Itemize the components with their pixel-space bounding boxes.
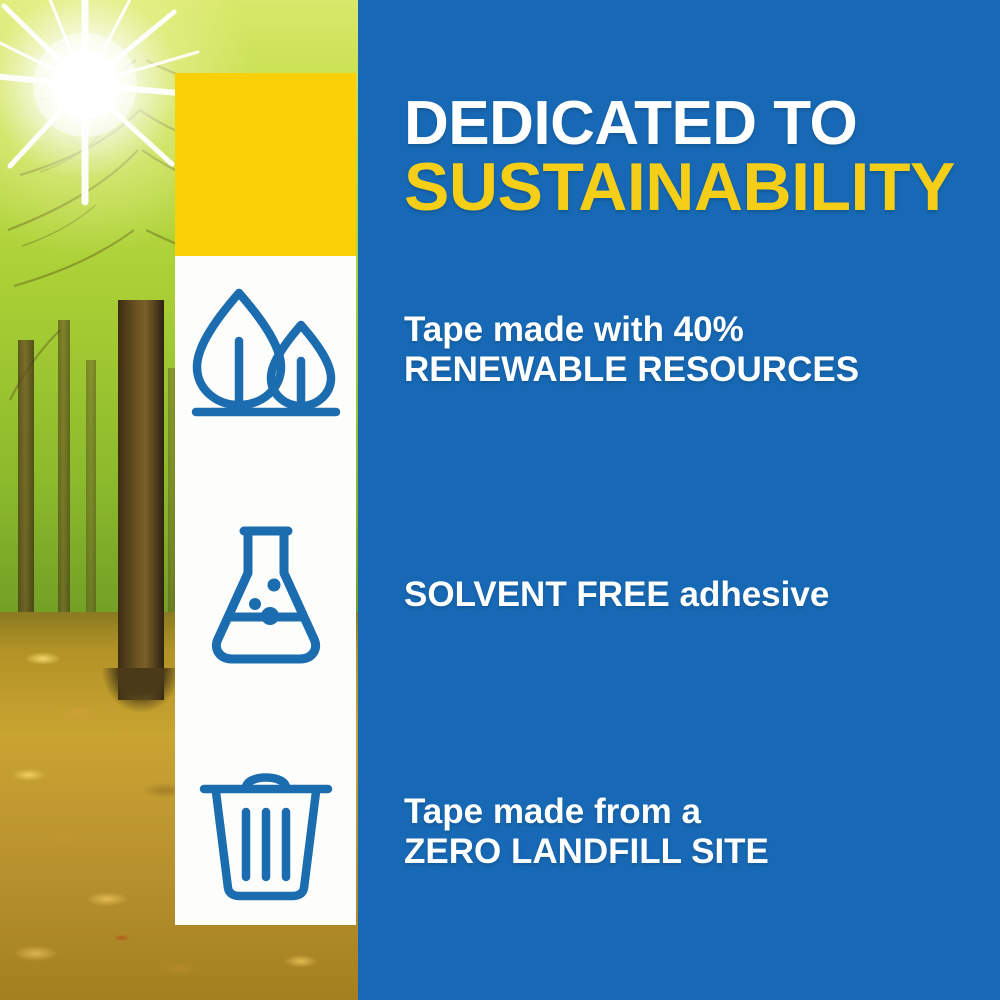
- page-title: DEDICATED TO SUSTAINABILITY: [404, 95, 984, 219]
- feature-3-line-2: ZERO LANDFILL SITE: [404, 832, 769, 872]
- feature-3-line-1: Tape made from a: [404, 792, 769, 832]
- sustainability-infographic: DEDICATED TO SUSTAINABILITY Tape made wi…: [0, 0, 1000, 1000]
- foreground-tree-trunk: [118, 300, 164, 700]
- feature-2-line-2: adhesive: [670, 575, 830, 614]
- yellow-accent-block: [175, 73, 356, 256]
- headline-line-2: SUSTAINABILITY: [404, 156, 984, 219]
- background-tree-trunk: [18, 340, 34, 640]
- headline-line-1: DEDICATED TO: [404, 95, 984, 152]
- two-leaves-icon: [175, 270, 356, 430]
- feature-renewable-resources: Tape made with 40% RENEWABLE RESOURCES: [404, 300, 994, 400]
- feature-1-line-2: RENEWABLE RESOURCES: [404, 350, 859, 390]
- background-tree-trunk: [58, 320, 70, 638]
- feature-2-line-1: SOLVENT FREE: [404, 575, 670, 614]
- feature-zero-landfill: Tape made from a ZERO LANDFILL SITE: [404, 782, 994, 882]
- trash-bin-icon: [175, 752, 356, 912]
- background-tree-trunk: [86, 360, 96, 622]
- feature-solvent-free: SOLVENT FREE adhesive: [404, 560, 994, 630]
- flask-icon: [175, 515, 356, 675]
- feature-1-line-1: Tape made with 40%: [404, 310, 859, 350]
